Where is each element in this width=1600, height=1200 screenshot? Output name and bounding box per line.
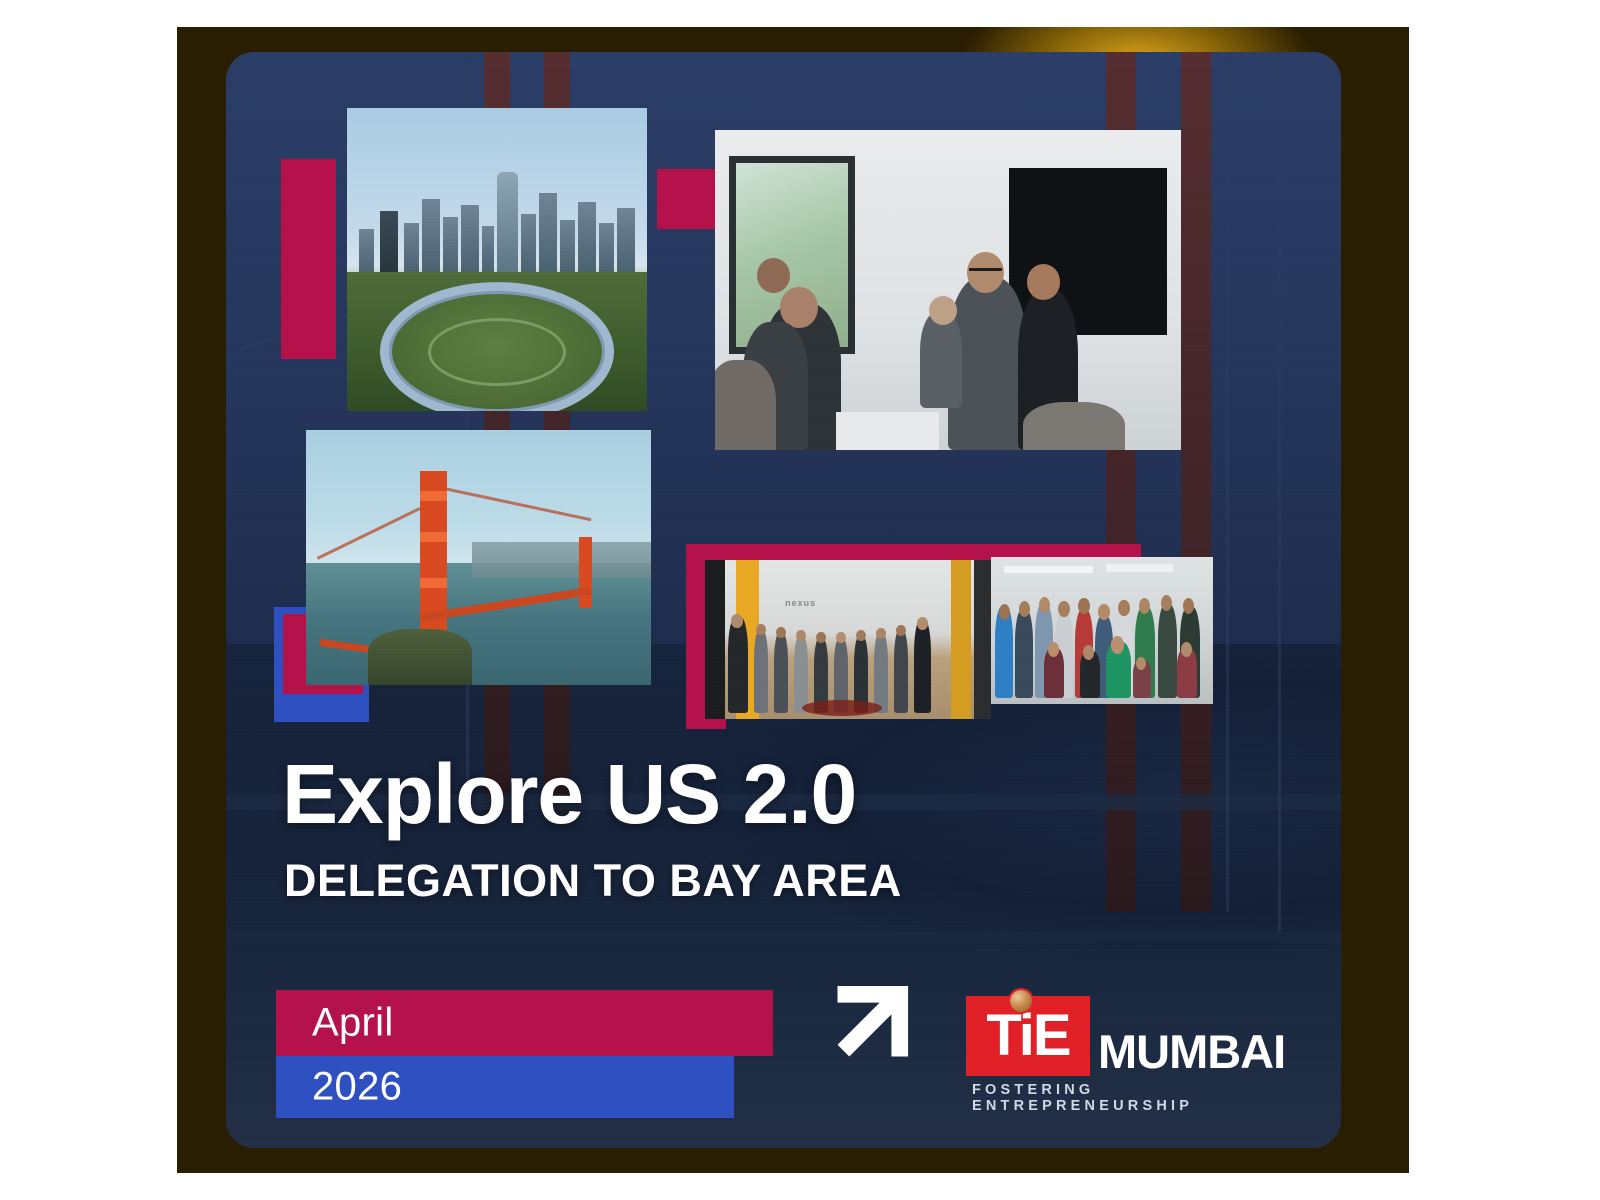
page-subtitle: DELEGATION TO BAY AREA (284, 858, 902, 903)
accent-block-crimson-top-left (281, 159, 336, 359)
photo-golden-gate-bridge (306, 430, 651, 685)
event-year-banner: 2026 (276, 1056, 734, 1118)
page-title: Explore US 2.0 (282, 752, 856, 836)
photo-san-francisco-skyline-apple-park (347, 108, 647, 411)
photo-group-office-lobby: nexus (705, 560, 991, 719)
arrow-up-right-icon (814, 984, 912, 1082)
bridge-tower-right-b (1181, 52, 1211, 912)
logo-org-name: MUMBAI (1098, 1024, 1285, 1079)
logo-tagline: FOSTERING ENTREPRENEURSHIP (972, 1082, 1296, 1114)
poster-card: nexus (226, 52, 1341, 1148)
globe-dot-icon (1010, 990, 1032, 1012)
event-year-label: 2026 (312, 1065, 402, 1110)
photo-group-corridor (991, 557, 1213, 704)
photo-delegation-meeting-presentation (715, 130, 1181, 450)
tie-logo-mark: TiE (966, 996, 1090, 1076)
tie-logo-text: TiE (986, 1010, 1069, 1062)
event-month-label: April (312, 1001, 394, 1046)
accent-block-crimson-behind-meeting (657, 169, 717, 229)
tie-mumbai-logo: TiE MUMBAI FOSTERING ENTREPRENEURSHIP (966, 990, 1296, 1108)
event-month-banner: April (276, 990, 773, 1056)
apple-park-ring (380, 282, 614, 411)
poster-outer-frame: nexus (177, 27, 1409, 1173)
